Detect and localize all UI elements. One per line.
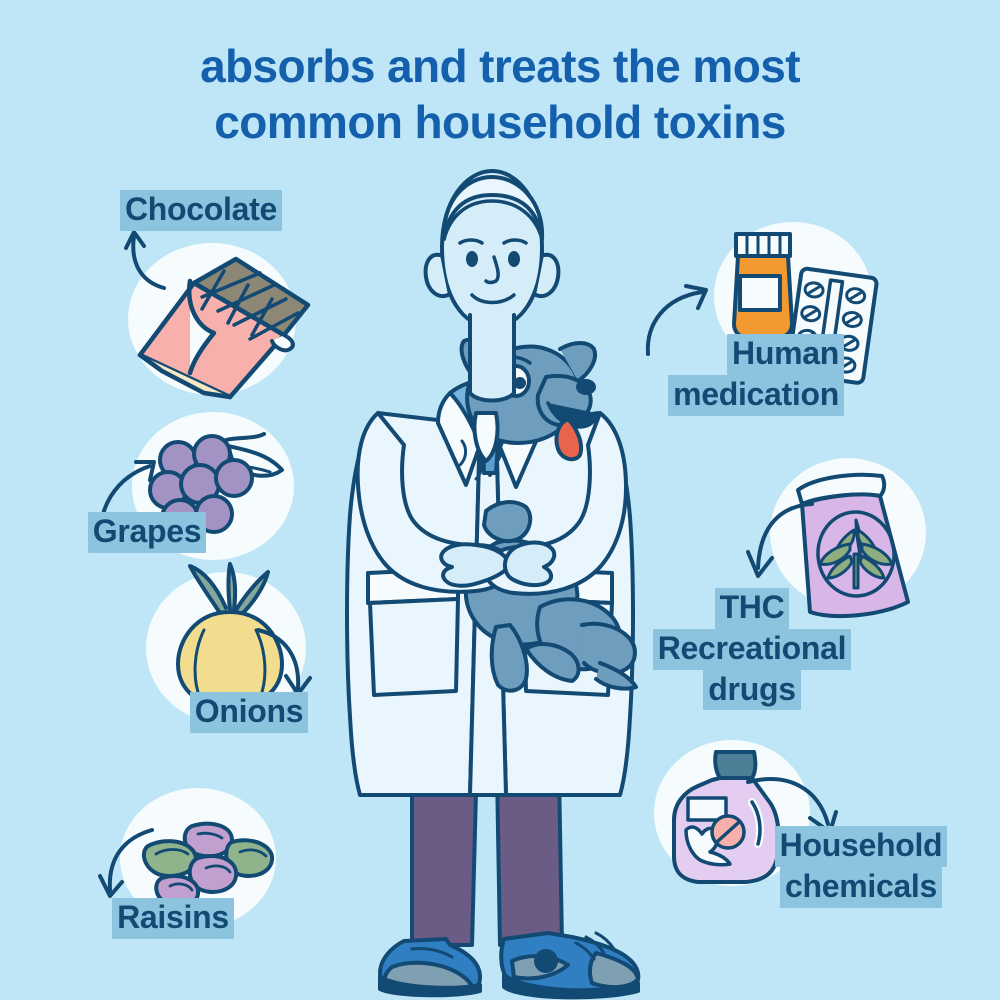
hand-right (505, 543, 554, 586)
label-onions-line-1: Onions (190, 692, 308, 733)
thc-arrow (742, 498, 822, 582)
neck (470, 315, 514, 401)
label-thc-line-2: Recreational (653, 629, 851, 670)
label-raisins-line-1: Raisins (112, 898, 234, 939)
label-thc-recreational-drugs: THC Recreational drugs (636, 588, 868, 710)
label-grapes-line-1: Grapes (88, 512, 206, 553)
label-chocolate: Chocolate (96, 190, 306, 231)
label-onions: Onions (174, 692, 324, 733)
shoe-left (380, 939, 480, 995)
label-household-chemicals: Household chemicals (756, 826, 966, 908)
title-line-1: absorbs and treats the most (0, 38, 1000, 94)
eye-left (466, 251, 478, 267)
title-line-2: common household toxins (0, 94, 1000, 150)
label-human-medication: Human medication (606, 334, 844, 416)
eye-right (508, 251, 520, 267)
onion-arrow (248, 622, 318, 702)
label-raisins: Raisins (98, 898, 248, 939)
raisins-arrow (96, 824, 166, 904)
label-thc-line-1: THC (715, 588, 790, 629)
page-title: absorbs and treats the most common house… (0, 38, 1000, 150)
chocolate-arrow (118, 224, 188, 294)
infographic-poster: absorbs and treats the most common house… (0, 0, 1000, 1000)
shoe-right (501, 933, 638, 997)
label-household-chemicals-line-1: Household (775, 826, 948, 867)
label-household-chemicals-line-2: chemicals (780, 867, 942, 908)
label-grapes: Grapes (72, 512, 222, 553)
label-chocolate-line-1: Chocolate (120, 190, 282, 231)
label-thc-line-3: drugs (703, 670, 800, 711)
label-human-medication-line-1: Human (727, 334, 844, 375)
label-human-medication-line-2: medication (668, 375, 844, 416)
